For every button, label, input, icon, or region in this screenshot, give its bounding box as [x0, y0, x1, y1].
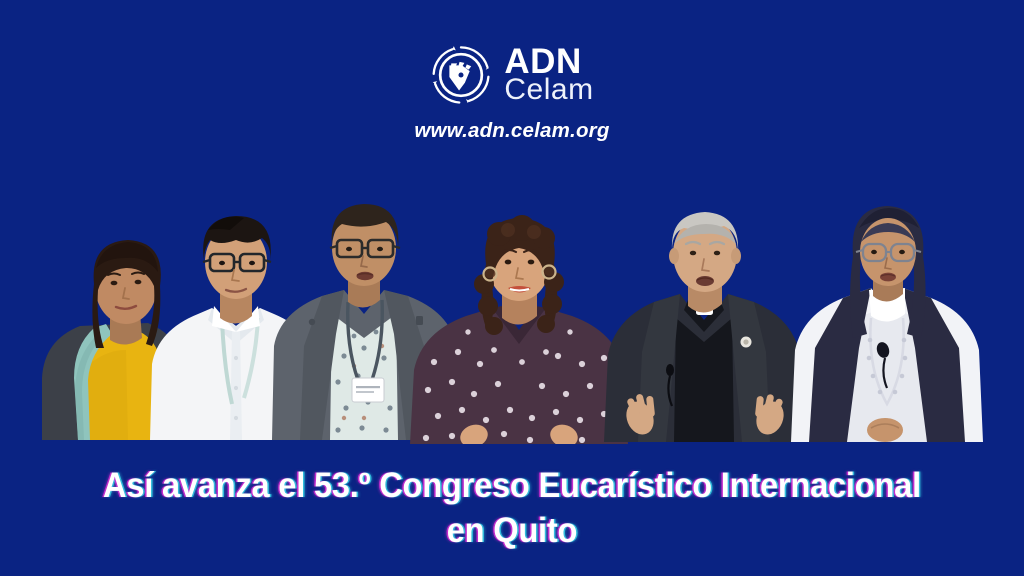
globe-circular-arrows-icon: [430, 44, 492, 106]
person-priest: [600, 202, 810, 460]
video-frame: ADN Celam www.adn.celam.org Así avanza e…: [0, 0, 1024, 576]
brand-block: ADN Celam www.adn.celam.org: [0, 44, 1024, 143]
brand-lockup: ADN Celam: [430, 44, 593, 106]
caption-line-2: en Quito: [43, 509, 980, 554]
caption-line-1: Así avanza el 53.º Congreso Eucarístico …: [43, 464, 980, 509]
person-nun: [785, 198, 990, 460]
brand-name-secondary: Celam: [504, 76, 593, 104]
brand-url: www.adn.celam.org: [414, 119, 609, 143]
brand-wordmark: ADN Celam: [504, 46, 593, 104]
caption-overlay: Así avanza el 53.º Congreso Eucarístico …: [0, 464, 1024, 554]
